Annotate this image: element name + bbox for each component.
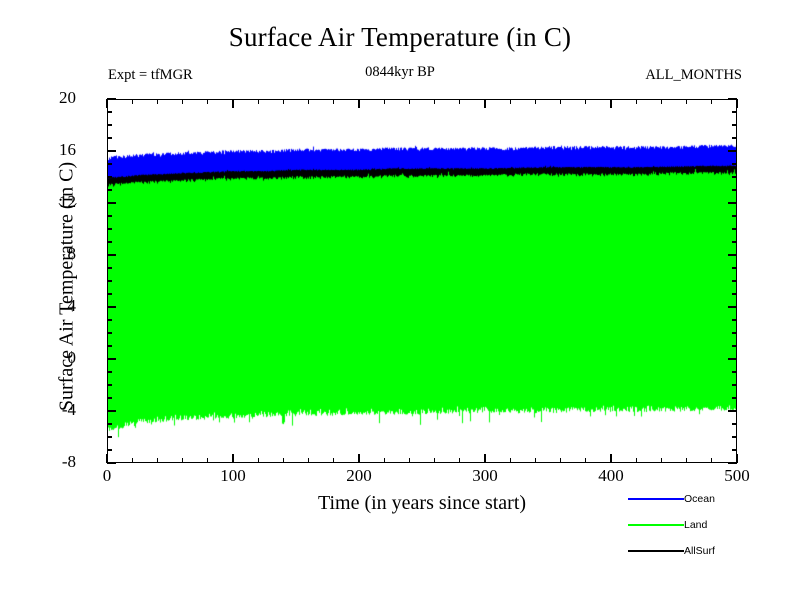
x-tick-top-minor <box>510 99 511 104</box>
y-tick-right-minor <box>732 176 737 177</box>
series-canvas <box>108 100 737 463</box>
y-tick-right-major <box>728 306 737 307</box>
y-tick-right-minor <box>732 228 737 229</box>
x-tick-label: 200 <box>346 466 372 486</box>
y-tick-minor <box>107 228 112 229</box>
x-tick-top-major <box>106 99 107 108</box>
x-tick-minor <box>384 458 385 463</box>
x-tick-top-minor <box>207 99 208 104</box>
x-tick-top-minor <box>661 99 662 104</box>
x-tick-top-minor <box>409 99 410 104</box>
y-tick-right-minor <box>732 397 737 398</box>
y-tick-minor <box>107 384 112 385</box>
legend-item-ocean: Ocean <box>628 486 793 512</box>
x-tick-top-minor <box>636 99 637 104</box>
y-tick-right-minor <box>732 384 737 385</box>
x-tick-top-minor <box>459 99 460 104</box>
y-tick-right-major <box>728 202 737 203</box>
x-tick-top-minor <box>182 99 183 104</box>
y-tick-minor <box>107 319 112 320</box>
y-tick-right-minor <box>732 189 737 190</box>
y-tick-right-minor <box>732 111 737 112</box>
x-tick-major <box>484 454 485 463</box>
legend-label: Land <box>684 520 707 531</box>
y-tick-label: -4 <box>62 400 76 420</box>
x-tick-top-minor <box>258 99 259 104</box>
y-tick-label: 16 <box>59 140 76 160</box>
x-tick-top-minor <box>560 99 561 104</box>
y-tick-label: 12 <box>59 192 76 212</box>
x-tick-top-minor <box>132 99 133 104</box>
y-tick-right-minor <box>732 215 737 216</box>
y-tick-right-minor <box>732 137 737 138</box>
y-tick-major <box>107 254 116 255</box>
x-tick-minor <box>459 458 460 463</box>
y-tick-minor <box>107 449 112 450</box>
y-tick-right-minor <box>732 345 737 346</box>
x-tick-top-minor <box>711 99 712 104</box>
x-tick-major <box>610 454 611 463</box>
y-tick-major <box>107 410 116 411</box>
y-tick-right-minor <box>732 241 737 242</box>
x-tick-minor <box>585 458 586 463</box>
legend-item-allsurf: AllSurf <box>628 538 793 564</box>
x-tick-major <box>358 454 359 463</box>
y-tick-right-minor <box>732 436 737 437</box>
x-tick-top-minor <box>157 99 158 104</box>
page-title: Surface Air Temperature (in C) <box>0 22 800 53</box>
y-tick-major <box>107 462 116 463</box>
x-tick-minor <box>157 458 158 463</box>
x-tick-label: 100 <box>220 466 246 486</box>
y-tick-minor <box>107 241 112 242</box>
x-tick-top-minor <box>283 99 284 104</box>
y-tick-minor <box>107 332 112 333</box>
x-tick-top-major <box>484 99 485 108</box>
y-tick-label: -8 <box>62 452 76 472</box>
y-tick-minor <box>107 176 112 177</box>
y-tick-right-minor <box>732 293 737 294</box>
x-tick-top-minor <box>308 99 309 104</box>
y-tick-right-minor <box>732 124 737 125</box>
y-tick-label: 20 <box>59 88 76 108</box>
y-tick-right-minor <box>732 449 737 450</box>
x-tick-minor <box>333 458 334 463</box>
x-tick-top-minor <box>434 99 435 104</box>
y-tick-right-minor <box>732 267 737 268</box>
y-tick-minor <box>107 189 112 190</box>
x-tick-minor <box>510 458 511 463</box>
y-tick-minor <box>107 436 112 437</box>
y-tick-minor <box>107 137 112 138</box>
y-tick-right-minor <box>732 319 737 320</box>
y-tick-minor <box>107 215 112 216</box>
y-tick-minor <box>107 423 112 424</box>
y-tick-minor <box>107 124 112 125</box>
x-tick-minor <box>535 458 536 463</box>
y-tick-minor <box>107 293 112 294</box>
x-tick-major <box>736 454 737 463</box>
y-tick-label: 8 <box>68 244 77 264</box>
x-tick-label: 400 <box>598 466 624 486</box>
legend-swatch-allsurf <box>628 550 684 552</box>
y-tick-major <box>107 306 116 307</box>
legend-item-land: Land <box>628 512 793 538</box>
x-tick-label: 500 <box>724 466 750 486</box>
y-tick-right-major <box>728 254 737 255</box>
legend-label: AllSurf <box>684 546 715 557</box>
x-tick-top-minor <box>333 99 334 104</box>
x-tick-minor <box>711 458 712 463</box>
y-tick-right-major <box>728 358 737 359</box>
y-tick-right-major <box>728 410 737 411</box>
y-tick-minor <box>107 371 112 372</box>
x-tick-top-major <box>610 99 611 108</box>
x-tick-top-minor <box>384 99 385 104</box>
y-tick-minor <box>107 345 112 346</box>
legend-swatch-land <box>628 524 684 526</box>
x-tick-minor <box>283 458 284 463</box>
x-tick-top-minor <box>535 99 536 104</box>
x-tick-label: 300 <box>472 466 498 486</box>
x-tick-major <box>106 454 107 463</box>
y-tick-right-minor <box>732 332 737 333</box>
x-tick-minor <box>636 458 637 463</box>
y-tick-label: 0 <box>68 348 77 368</box>
x-tick-top-minor <box>686 99 687 104</box>
x-tick-top-major <box>736 99 737 108</box>
x-tick-minor <box>560 458 561 463</box>
legend-swatch-ocean <box>628 498 684 500</box>
y-tick-right-minor <box>732 280 737 281</box>
y-tick-minor <box>107 280 112 281</box>
x-tick-minor <box>409 458 410 463</box>
x-tick-label: 0 <box>103 466 112 486</box>
x-tick-minor <box>132 458 133 463</box>
x-tick-top-major <box>358 99 359 108</box>
y-tick-right-minor <box>732 423 737 424</box>
x-tick-minor <box>686 458 687 463</box>
legend: OceanLandAllSurf <box>628 486 793 564</box>
x-tick-minor <box>434 458 435 463</box>
y-tick-minor <box>107 163 112 164</box>
months-label: ALL_MONTHS <box>645 67 742 84</box>
y-tick-minor <box>107 397 112 398</box>
x-tick-minor <box>308 458 309 463</box>
x-tick-minor <box>661 458 662 463</box>
y-tick-right-minor <box>732 371 737 372</box>
x-tick-top-major <box>232 99 233 108</box>
y-tick-label: 4 <box>68 296 77 316</box>
y-tick-minor <box>107 111 112 112</box>
y-tick-right-minor <box>732 163 737 164</box>
x-tick-minor <box>182 458 183 463</box>
x-tick-minor <box>207 458 208 463</box>
x-tick-top-minor <box>585 99 586 104</box>
y-tick-right-major <box>728 150 737 151</box>
x-tick-major <box>232 454 233 463</box>
plot-area <box>107 99 737 463</box>
y-tick-major <box>107 358 116 359</box>
legend-label: Ocean <box>684 494 715 505</box>
chart-page: Surface Air Temperature (in C) Expt = tf… <box>0 0 800 600</box>
y-tick-minor <box>107 267 112 268</box>
y-tick-major <box>107 150 116 151</box>
y-tick-major <box>107 202 116 203</box>
y-tick-major <box>107 98 116 99</box>
x-tick-minor <box>258 458 259 463</box>
